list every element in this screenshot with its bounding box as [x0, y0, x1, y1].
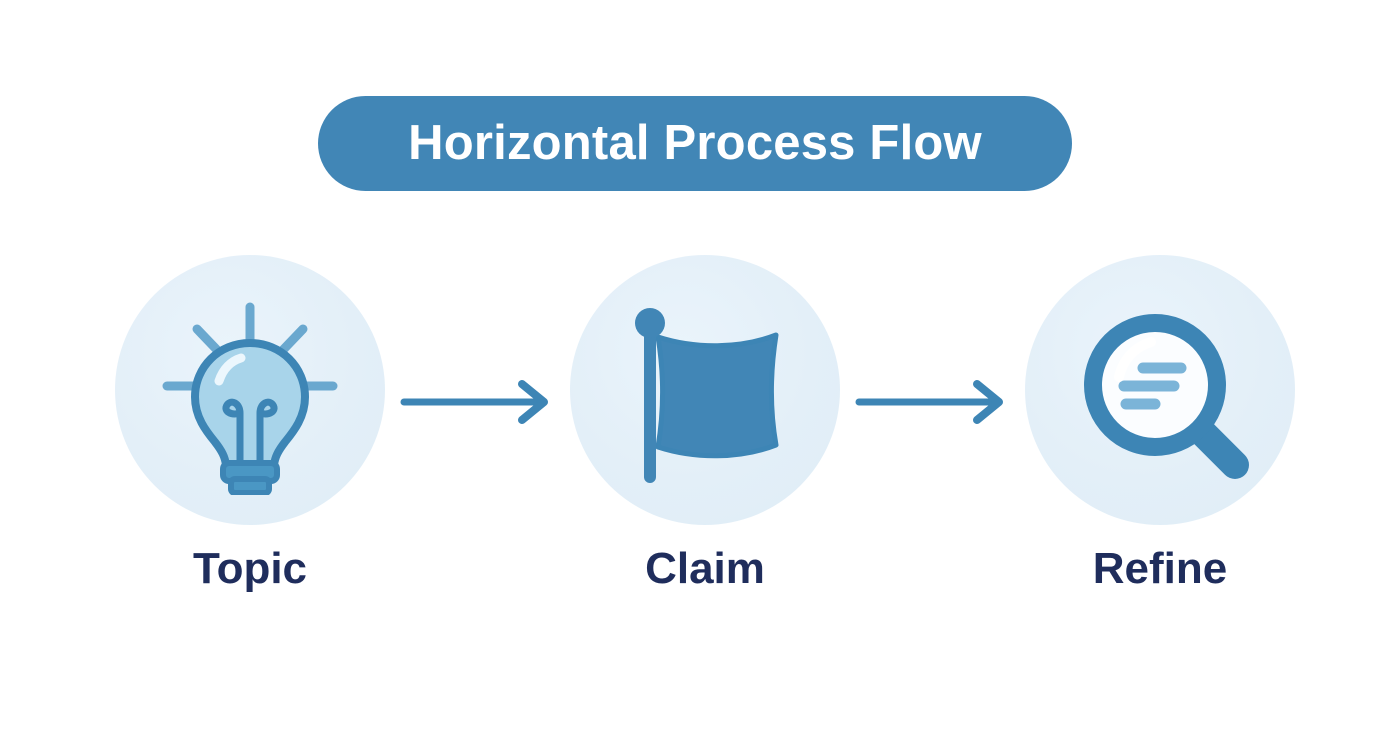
refine-icon-circle — [1025, 255, 1295, 525]
step-label-refine: Refine — [1093, 547, 1227, 591]
lightbulb-icon — [145, 285, 355, 495]
flag-icon — [600, 285, 810, 495]
process-flow-diagram: Horizontal Process Flow — [0, 0, 1392, 752]
topic-icon-circle — [115, 255, 385, 525]
arrow-right-icon — [855, 377, 1015, 427]
process-step-refine[interactable]: Refine — [1020, 255, 1300, 591]
process-step-claim[interactable]: Claim — [565, 255, 845, 591]
arrow-right-icon — [400, 377, 560, 427]
diagram-title-text: Horizontal Process Flow — [408, 119, 982, 168]
step-label-claim: Claim — [645, 547, 765, 591]
connector-arrow-claim-to-refine — [855, 377, 1015, 427]
step-label-topic: Topic — [193, 547, 307, 591]
process-steps-row: Topic Claim — [0, 255, 1392, 655]
connector-arrow-topic-to-claim — [400, 377, 560, 427]
claim-icon-circle — [570, 255, 840, 525]
magnifier-icon — [1055, 285, 1265, 495]
process-step-topic[interactable]: Topic — [110, 255, 390, 591]
diagram-title-banner: Horizontal Process Flow — [318, 96, 1072, 191]
